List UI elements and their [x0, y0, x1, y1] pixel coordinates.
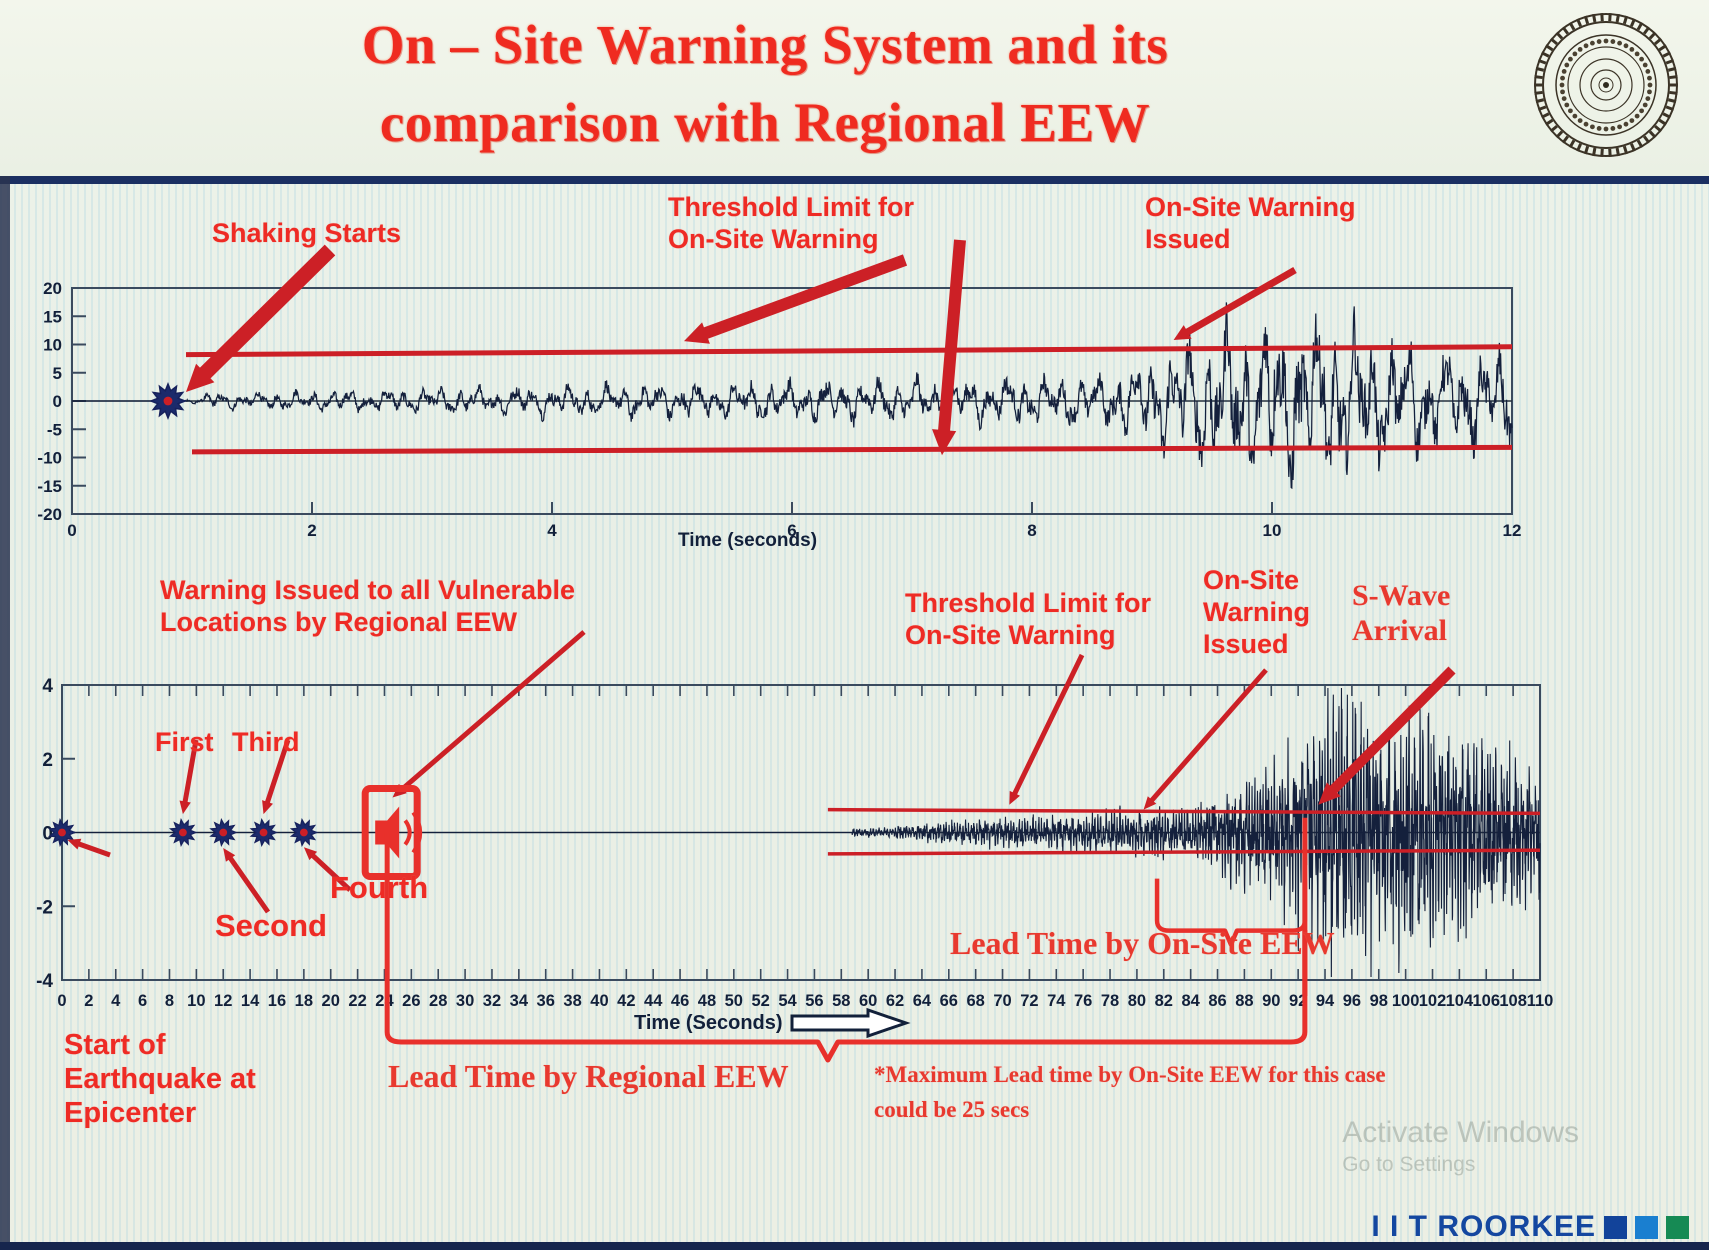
svg-text:74: 74: [1047, 992, 1066, 1010]
watermark-line-1: Activate Windows: [1342, 1116, 1579, 1149]
annotation-regional-warning: Warning Issued to all Vulnerable Locatio…: [160, 575, 575, 639]
bracket-label-lead-time-on-site: Lead Time by On-Site EEW: [950, 925, 1335, 963]
svg-text:72: 72: [1020, 992, 1038, 1010]
svg-text:46: 46: [671, 992, 689, 1010]
svg-text:-4: -4: [36, 971, 53, 992]
bottom-panel-xlabel: Time (Seconds): [634, 1012, 783, 1035]
footer-swatch-1: [1604, 1216, 1627, 1239]
slide-canvas: On – Site Warning System and its compari…: [0, 0, 1709, 1250]
annotation-fourth-station: Fourth: [330, 870, 428, 907]
footer-swatch-2: [1635, 1216, 1658, 1239]
svg-text:50: 50: [725, 992, 743, 1010]
annotation-first-station: First: [155, 727, 214, 759]
svg-text:-20: -20: [37, 505, 62, 524]
svg-text:4: 4: [547, 521, 557, 540]
title-line-1: On – Site Warning System and its: [150, 6, 1380, 84]
svg-text:40: 40: [590, 992, 608, 1010]
annotation-second-station: Second: [215, 908, 327, 945]
svg-text:84: 84: [1181, 992, 1200, 1010]
svg-text:104: 104: [1446, 992, 1474, 1010]
svg-text:10: 10: [187, 992, 205, 1010]
svg-text:98: 98: [1370, 992, 1388, 1010]
svg-text:64: 64: [913, 992, 932, 1010]
annotation-on-site-warning-issued-top: On-Site Warning Issued: [1145, 192, 1356, 256]
svg-text:110: 110: [1527, 992, 1554, 1010]
svg-text:20: 20: [322, 992, 340, 1010]
top-panel-xlabel: Time (seconds): [678, 530, 817, 552]
windows-activation-watermark: Activate Windows Go to Settings: [1342, 1114, 1579, 1178]
svg-text:16: 16: [268, 992, 286, 1010]
annotation-s-wave-arrival: S-Wave Arrival: [1352, 578, 1450, 649]
svg-text:22: 22: [348, 992, 366, 1010]
svg-text:68: 68: [966, 992, 984, 1010]
svg-text:0: 0: [57, 992, 66, 1010]
svg-text:32: 32: [483, 992, 501, 1010]
svg-text:34: 34: [510, 992, 529, 1010]
svg-text:78: 78: [1101, 992, 1119, 1010]
svg-text:94: 94: [1316, 992, 1335, 1010]
annotation-third-station: Third: [232, 727, 300, 759]
page-title: On – Site Warning System and its compari…: [150, 6, 1380, 162]
svg-text:44: 44: [644, 992, 663, 1010]
svg-text:38: 38: [563, 992, 581, 1010]
svg-text:0: 0: [53, 392, 62, 411]
svg-text:20: 20: [43, 279, 62, 298]
svg-text:2: 2: [84, 992, 93, 1010]
svg-text:0: 0: [67, 521, 76, 540]
svg-text:52: 52: [752, 992, 770, 1010]
svg-text:-10: -10: [37, 449, 62, 468]
watermark-line-2: Go to Settings: [1342, 1152, 1579, 1178]
svg-text:6: 6: [138, 992, 147, 1010]
svg-text:10: 10: [43, 336, 62, 355]
svg-text:36: 36: [537, 992, 555, 1010]
svg-text:70: 70: [993, 992, 1011, 1010]
svg-text:80: 80: [1128, 992, 1146, 1010]
svg-text:4: 4: [42, 676, 53, 697]
footer-institute-name: I I T ROORKEE: [1371, 1210, 1596, 1244]
slide-bottom-bar: [0, 1242, 1709, 1250]
slide-header: On – Site Warning System and its compari…: [0, 0, 1709, 184]
annotation-shaking-starts: Shaking Starts: [212, 218, 401, 250]
annotation-start-of-earthquake: Start of Earthquake at Epicenter: [64, 1028, 256, 1131]
svg-text:10: 10: [1263, 521, 1282, 540]
svg-text:15: 15: [43, 307, 62, 326]
svg-text:12: 12: [1503, 521, 1522, 540]
annotation-threshold-limit-bottom: Threshold Limit for On-Site Warning: [905, 588, 1151, 652]
svg-text:96: 96: [1343, 992, 1361, 1010]
svg-text:30: 30: [456, 992, 474, 1010]
svg-text:48: 48: [698, 992, 716, 1010]
svg-text:26: 26: [402, 992, 420, 1010]
svg-text:28: 28: [429, 992, 447, 1010]
svg-text:-2: -2: [36, 897, 53, 918]
svg-text:66: 66: [940, 992, 958, 1010]
svg-text:76: 76: [1074, 992, 1092, 1010]
svg-text:2: 2: [307, 521, 316, 540]
svg-text:2: 2: [42, 750, 53, 771]
annotation-threshold-limit-top: Threshold Limit for On-Site Warning: [668, 192, 914, 256]
svg-text:86: 86: [1208, 992, 1226, 1010]
svg-text:8: 8: [1027, 521, 1036, 540]
annotation-on-site-warning-issued-bottom: On-Site Warning Issued: [1203, 565, 1310, 661]
svg-text:8: 8: [165, 992, 174, 1010]
svg-text:82: 82: [1155, 992, 1173, 1010]
svg-text:106: 106: [1472, 992, 1500, 1010]
svg-text:108: 108: [1499, 992, 1527, 1010]
svg-text:-5: -5: [47, 420, 62, 439]
iit-roorkee-seal-icon: [1531, 10, 1681, 160]
svg-text:14: 14: [241, 992, 260, 1010]
bracket-label-lead-time-regional: Lead Time by Regional EEW: [388, 1058, 789, 1096]
svg-text:12: 12: [214, 992, 232, 1010]
svg-text:4: 4: [111, 992, 121, 1010]
footer-swatch-3: [1666, 1216, 1689, 1239]
svg-text:-15: -15: [37, 477, 62, 496]
svg-text:90: 90: [1262, 992, 1280, 1010]
svg-text:18: 18: [295, 992, 313, 1010]
svg-text:42: 42: [617, 992, 635, 1010]
svg-text:88: 88: [1235, 992, 1253, 1010]
footnote-max-lead-time: *Maximum Lead time by On-Site EEW for th…: [874, 1058, 1386, 1127]
svg-text:5: 5: [53, 364, 62, 383]
time-direction-arrow-icon: [790, 1008, 910, 1040]
title-line-2: comparison with Regional EEW: [150, 84, 1380, 162]
svg-text:100: 100: [1392, 992, 1420, 1010]
svg-text:102: 102: [1419, 992, 1447, 1010]
footer-branding: I I T ROORKEE: [1371, 1210, 1689, 1244]
